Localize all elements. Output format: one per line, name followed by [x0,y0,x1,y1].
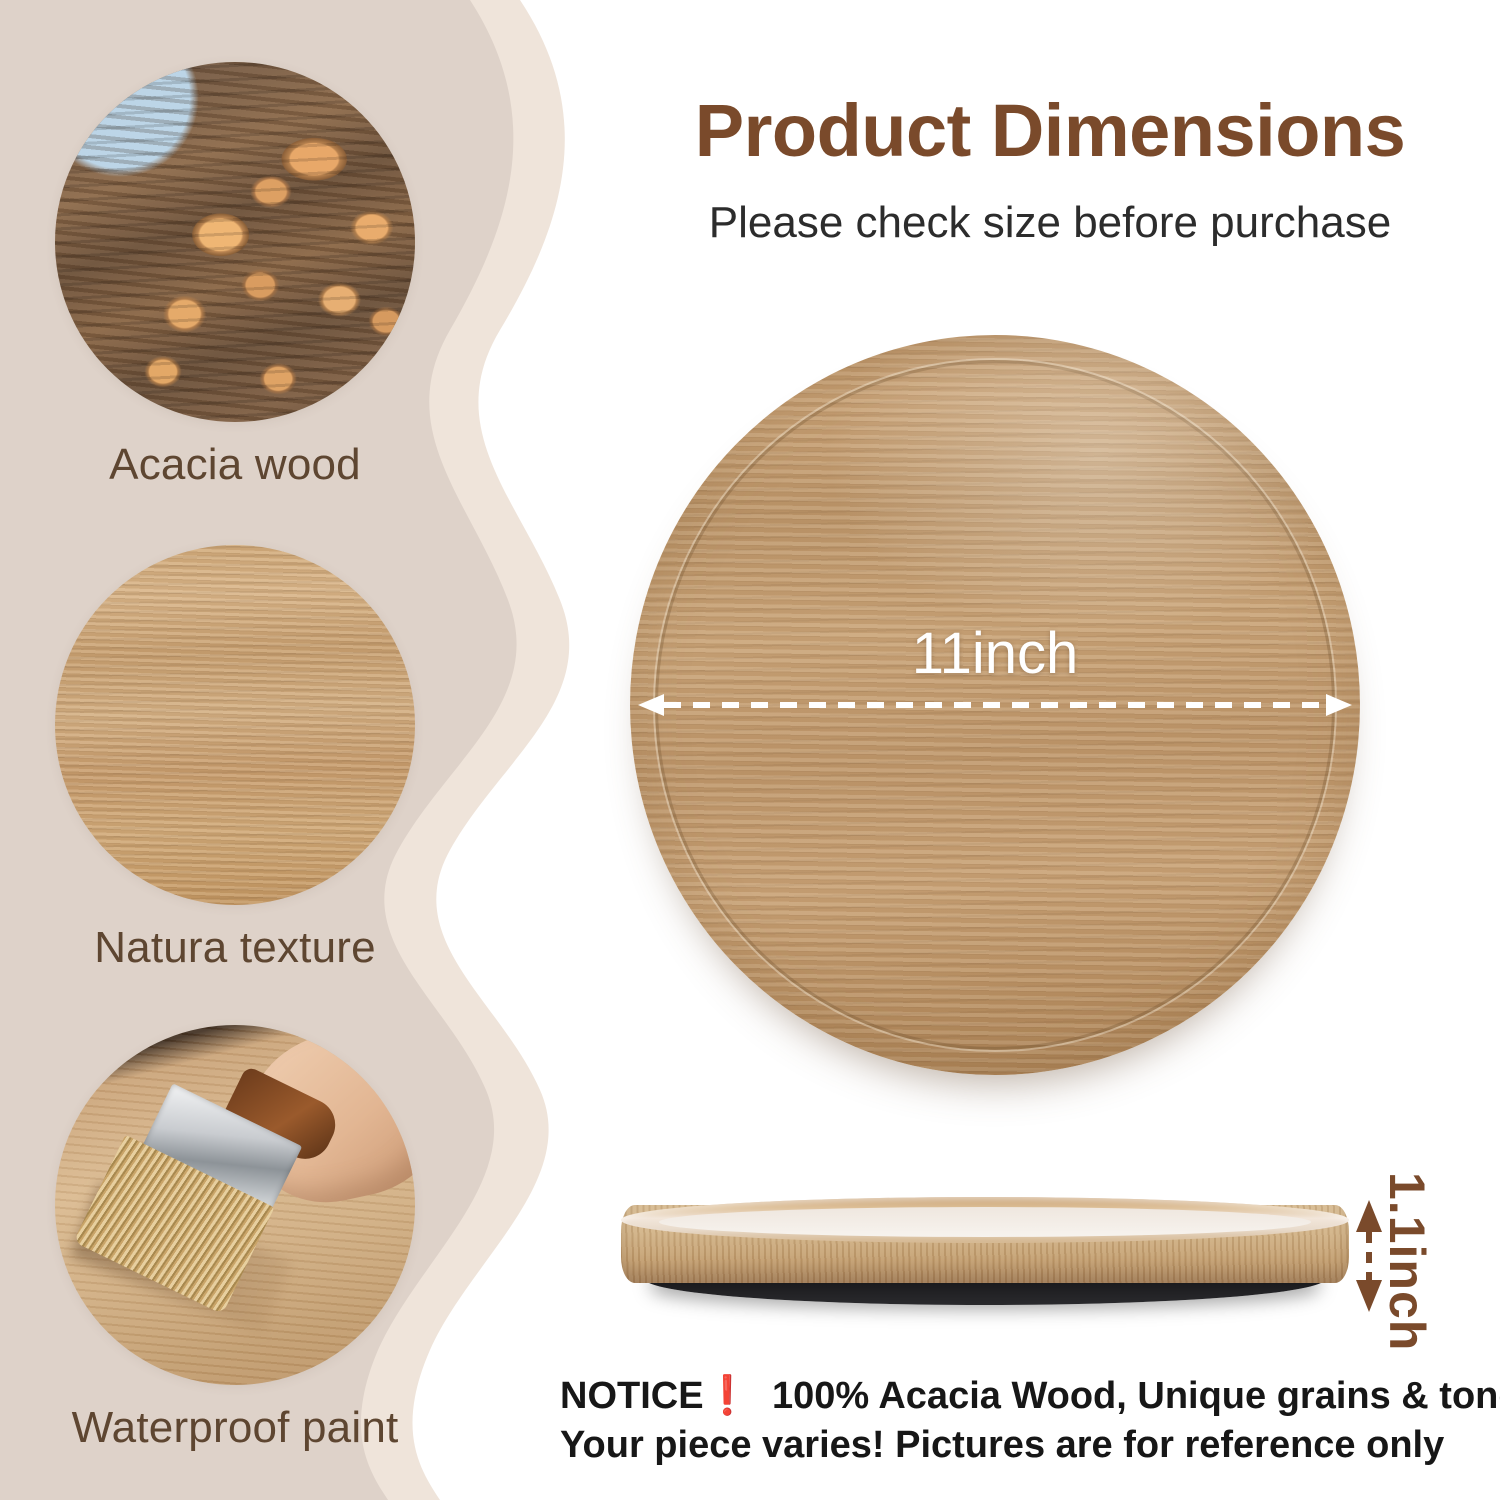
feature-label-acacia-wood: Acacia wood [0,440,470,490]
tray-inner-surface [659,1207,1311,1237]
page-subtitle: Please check size before purchase [630,198,1470,248]
diameter-arrow-icon [638,694,1352,716]
notice-exclamation-icon: ❗ [704,1375,751,1417]
wood-grain-photo [55,545,415,905]
feature-acacia-wood: Acacia wood [0,62,470,490]
feature-image-waterproof-paint [55,1025,415,1385]
notice-text-1: 100% Acacia Wood, Unique grains & tones. [772,1375,1500,1417]
product-infographic: Acacia wood Natura texture Waterproof pa… [0,0,1500,1500]
height-label: 1.1inch [1378,1172,1436,1351]
notice-keyword: NOTICE [560,1375,704,1417]
notice-block: NOTICE❗ 100% Acacia Wood, Unique grains … [560,1372,1450,1469]
paintbrush-on-wood-photo [55,1025,415,1385]
feature-natura-texture: Natura texture [0,545,470,973]
feature-waterproof-paint: Waterproof paint [0,1025,470,1453]
feature-label-waterproof-paint: Waterproof paint [0,1403,470,1453]
diameter-label: 11inch [630,620,1360,687]
notice-line-2: Your piece varies! Pictures are for refe… [560,1421,1450,1470]
stacked-logs-photo [55,62,415,422]
page-title: Product Dimensions [630,88,1470,173]
feature-image-acacia-wood [55,62,415,422]
feature-image-natura-texture [55,545,415,905]
notice-line-1: NOTICE❗ 100% Acacia Wood, Unique grains … [560,1372,1450,1421]
product-side-view [615,1195,1355,1315]
feature-label-natura-texture: Natura texture [0,923,470,973]
